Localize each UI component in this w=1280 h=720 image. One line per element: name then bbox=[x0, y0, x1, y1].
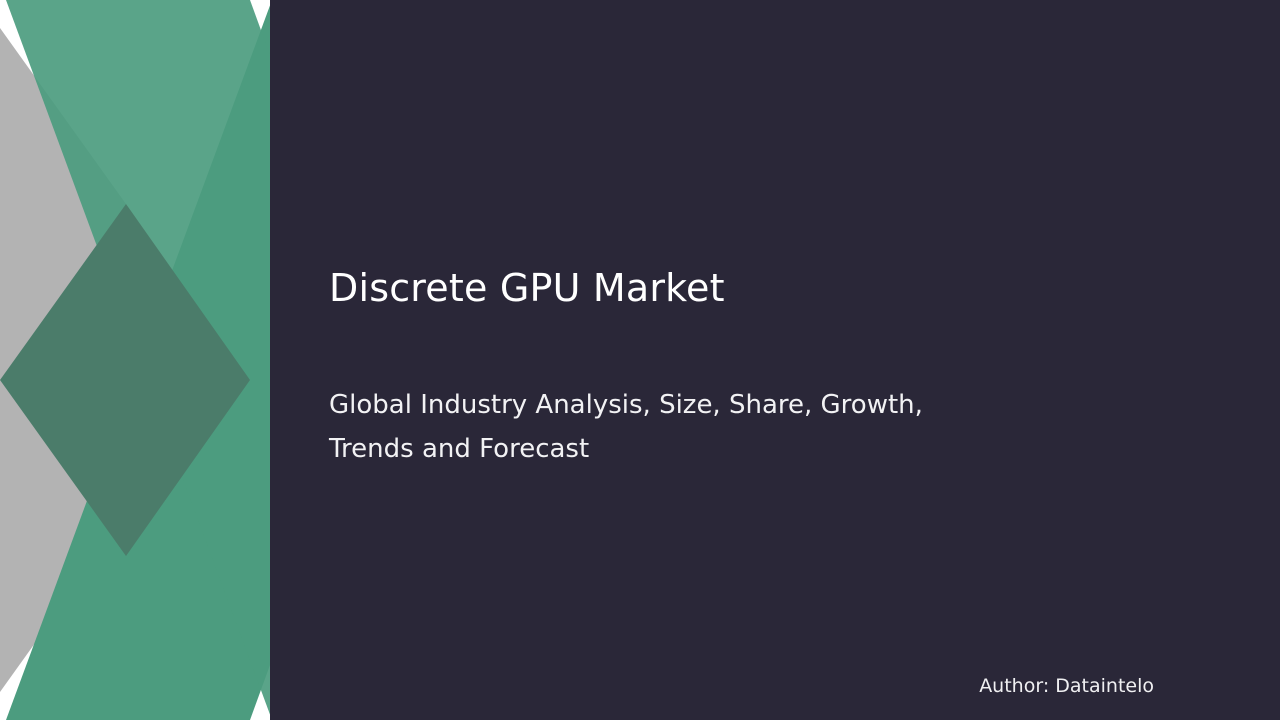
slide-content: Discrete GPU Market Global Industry Anal… bbox=[0, 0, 1280, 720]
slide-subtitle: Global Industry Analysis, Size, Share, G… bbox=[329, 383, 989, 471]
page-title: Discrete GPU Market bbox=[329, 262, 1159, 314]
author-label: Author: Dataintelo bbox=[979, 673, 1154, 699]
title-slide: Discrete GPU Market Global Industry Anal… bbox=[0, 0, 1280, 720]
